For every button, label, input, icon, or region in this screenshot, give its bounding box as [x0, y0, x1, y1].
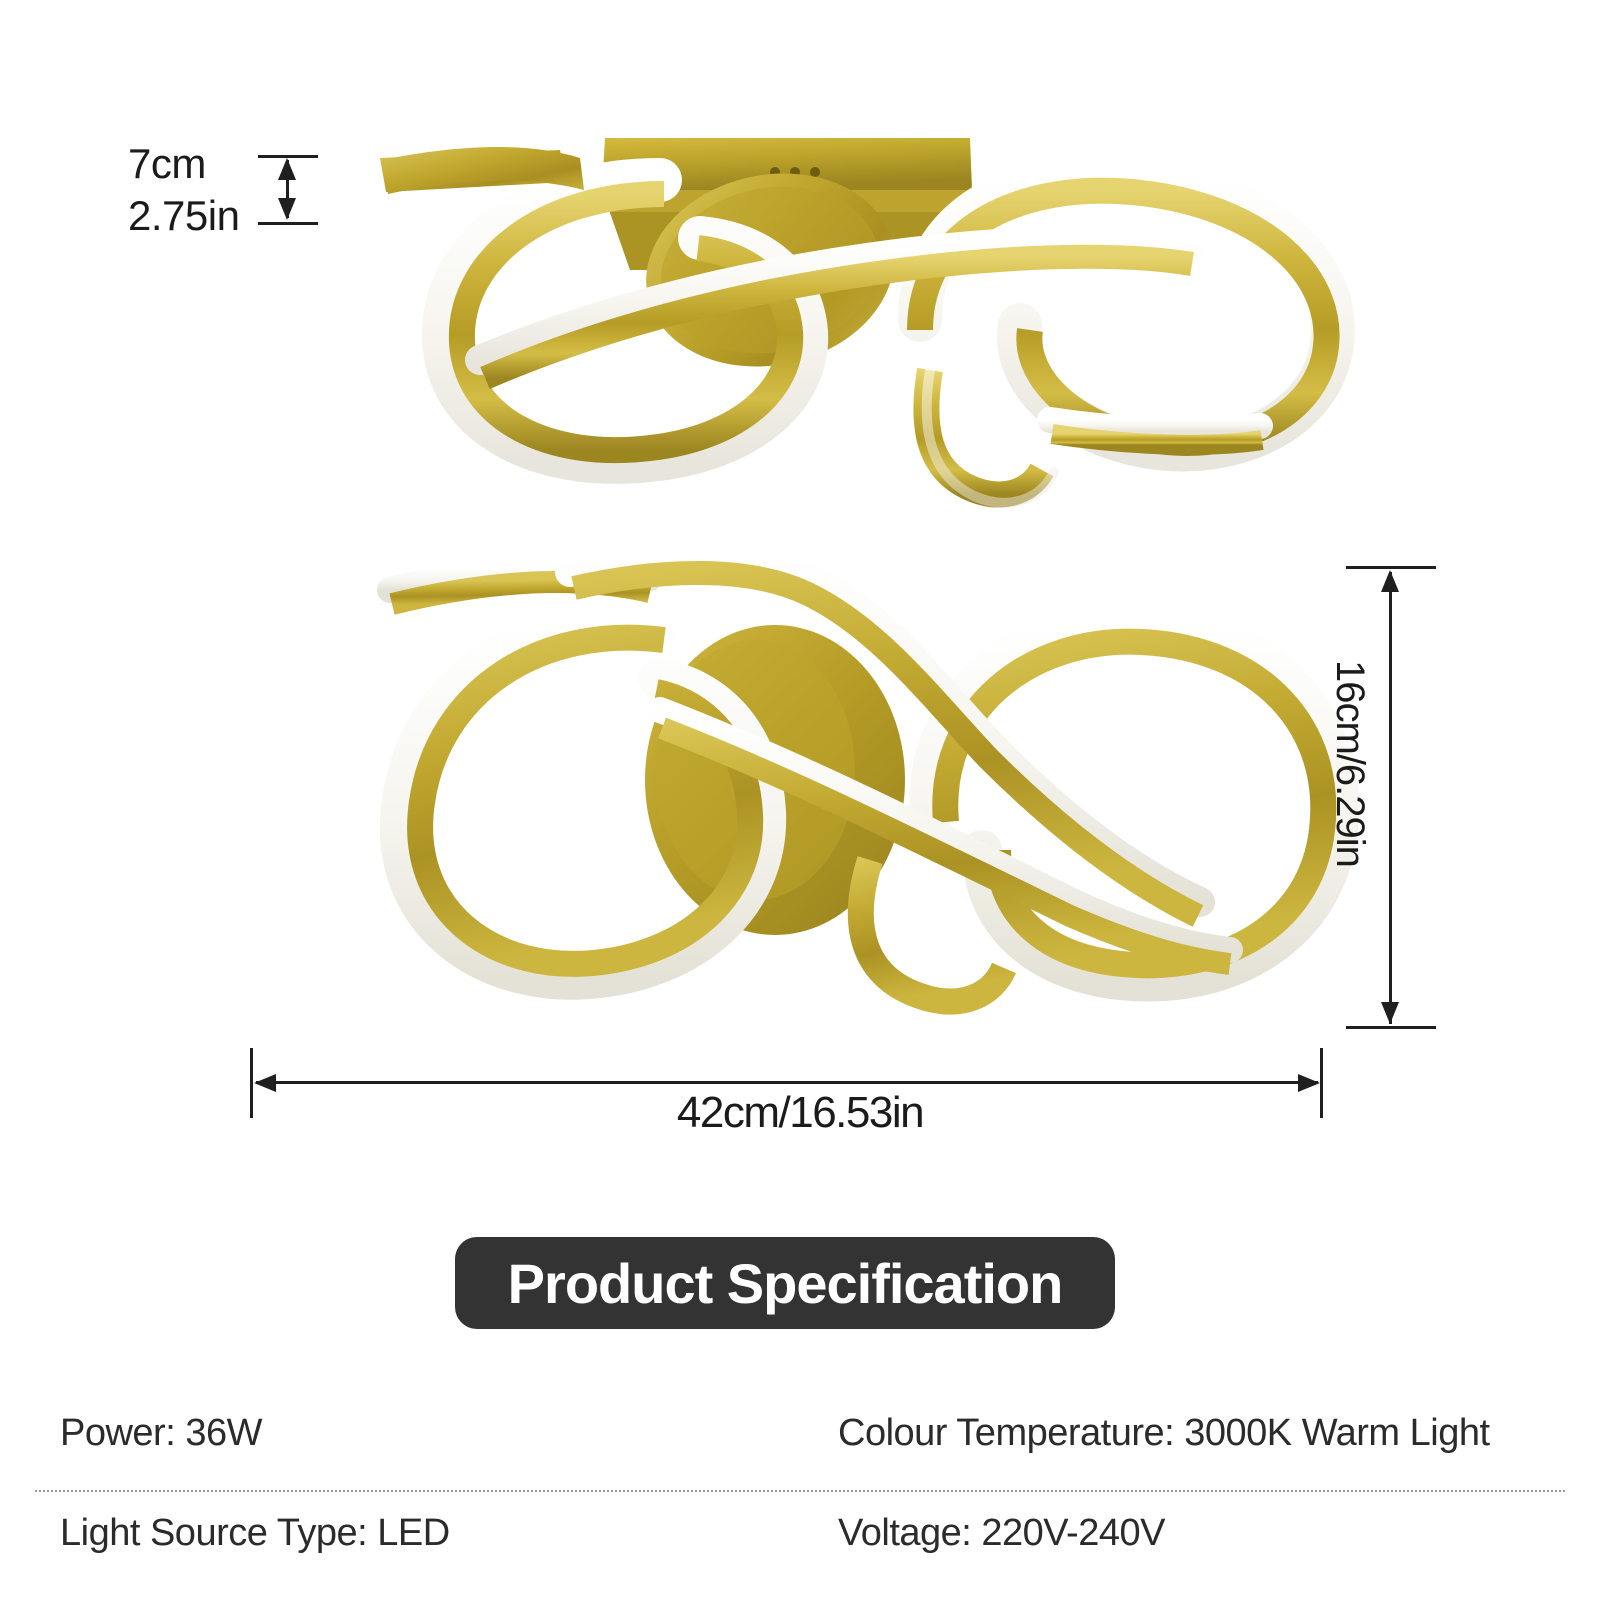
- spec-power: Power: 36W: [60, 1412, 262, 1455]
- spec-divider: [35, 1490, 1565, 1494]
- product-spec-page: 7cm 2.75in 16cm/6.29in 42cm/16.53in Prod…: [0, 0, 1600, 1600]
- depth-dimension-label: 16cm/6.29in: [1327, 660, 1372, 867]
- depth-dim-arrow-up: [1381, 570, 1399, 592]
- product-image-perspective: [230, 120, 1410, 520]
- spec-row: Light Source Type: LED Voltage: 220V-240…: [0, 1490, 1600, 1590]
- product-image-front: [230, 530, 1410, 1030]
- depth-dim-arrow-down: [1381, 1002, 1399, 1024]
- depth-dim-shaft: [1389, 572, 1392, 1024]
- width-dimension-label: 42cm/16.53in: [0, 1088, 1600, 1138]
- spec-light-source-type: Light Source Type: LED: [60, 1512, 450, 1555]
- right-straight-tail: [1050, 420, 1262, 445]
- right-loop: [920, 177, 1333, 450]
- spec-voltage: Voltage: 220V-240V: [838, 1512, 1165, 1555]
- spec-row: Power: 36W Colour Temperature: 3000K War…: [0, 1390, 1600, 1490]
- screw-hole: [810, 167, 820, 177]
- height-dimension-label: 7cm 2.75in: [128, 138, 239, 242]
- product-specification-banner: Product Specification: [455, 1237, 1115, 1329]
- width-dim-shaft: [256, 1081, 1318, 1084]
- depth-dim-cap-top: [1346, 566, 1436, 569]
- product-specification-title: Product Specification: [508, 1251, 1063, 1316]
- height-dim-arrow-down: [278, 198, 296, 220]
- spec-colour-temperature: Colour Temperature: 3000K Warm Light: [838, 1412, 1490, 1455]
- height-dim-arrow-up: [278, 158, 296, 180]
- depth-dim-cap-bottom: [1346, 1026, 1436, 1029]
- height-dim-cap-bottom: [258, 222, 318, 225]
